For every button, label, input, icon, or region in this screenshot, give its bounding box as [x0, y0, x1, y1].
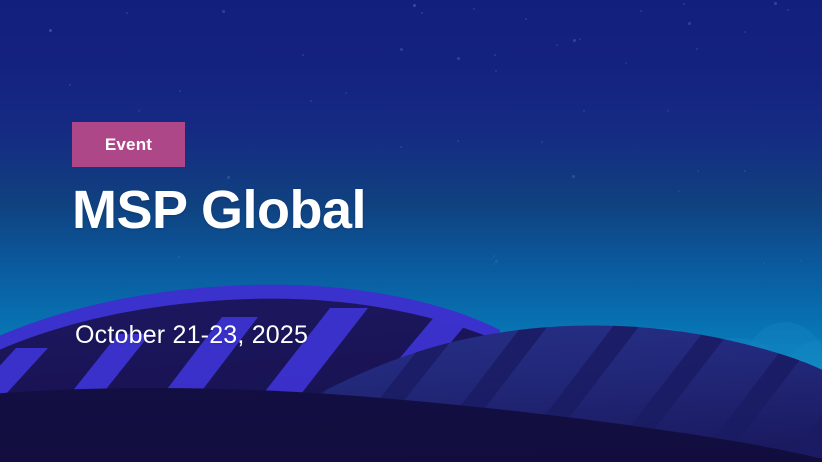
event-date: October 21-23, 2025 — [75, 318, 308, 352]
event-badge-label: Event — [105, 135, 152, 155]
hills-illustration — [0, 282, 822, 462]
page-title: MSP Global — [72, 177, 366, 243]
event-badge: Event — [72, 122, 185, 167]
event-banner: Event MSP Global October 21-23, 2025 — [0, 0, 822, 462]
